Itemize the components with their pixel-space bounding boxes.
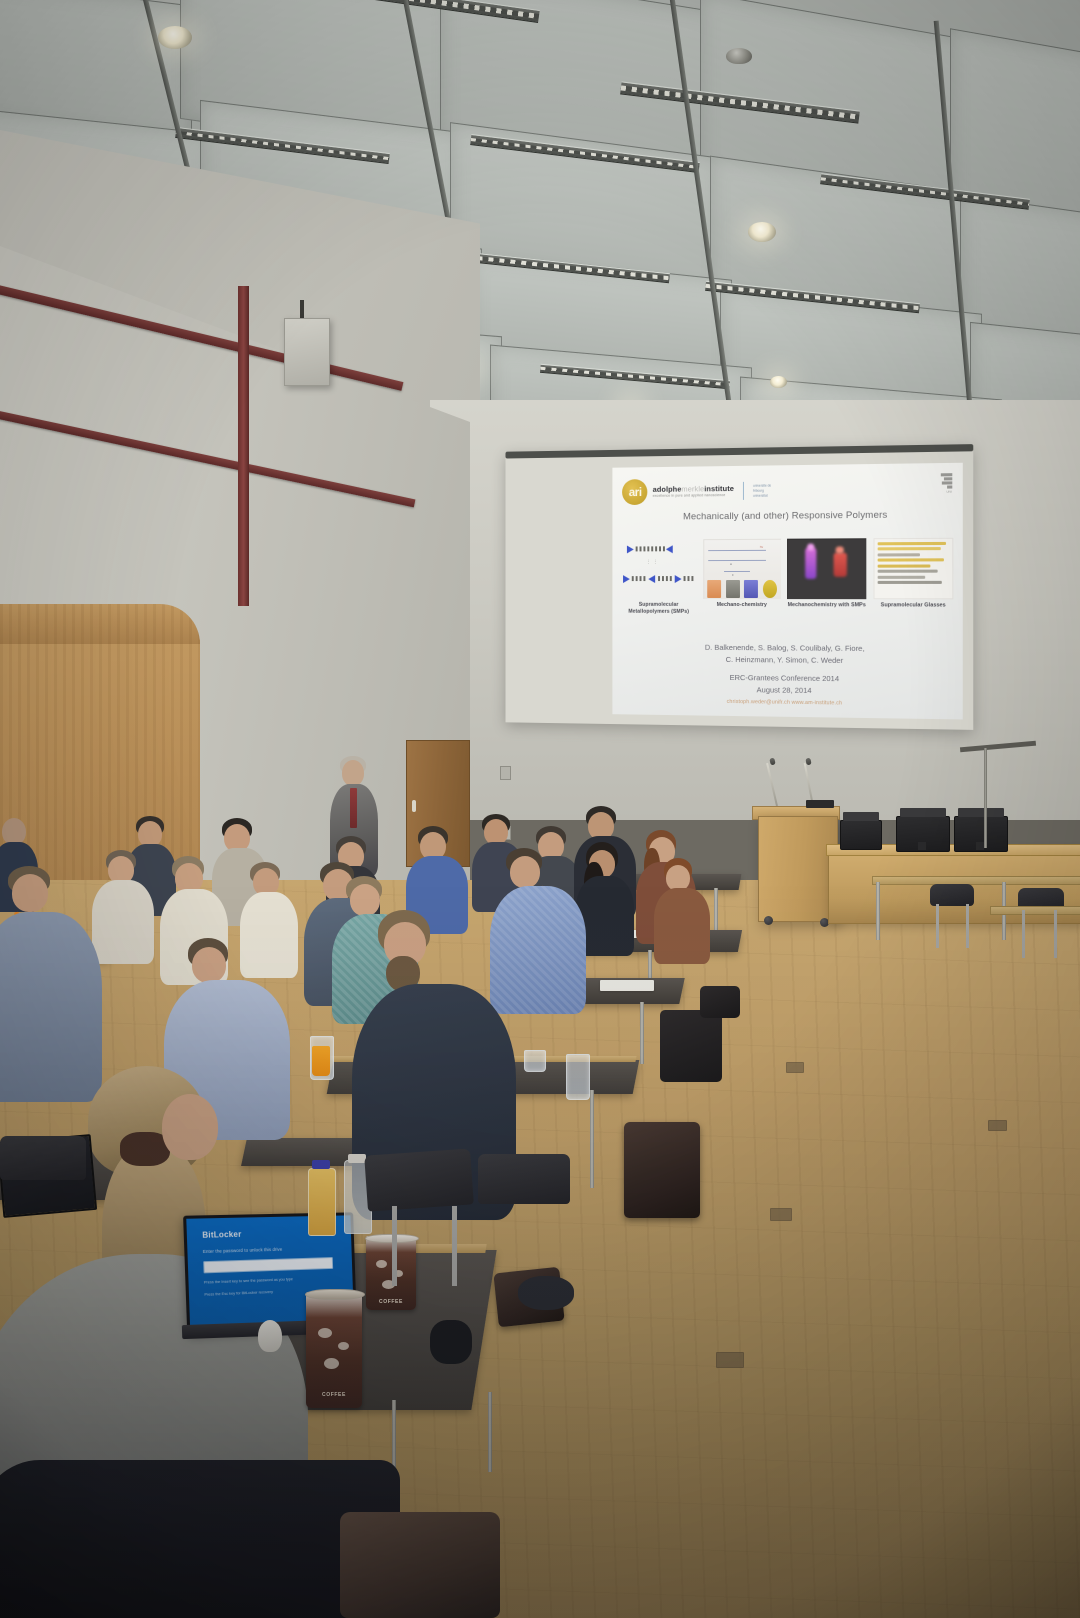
floor-socket-cover xyxy=(716,1352,744,1368)
av-monitor[interactable] xyxy=(840,820,882,850)
orange-juice-liquid xyxy=(312,1046,330,1076)
ceiling-spotlight xyxy=(748,222,776,242)
slide-panel-row: ⋮ ⋮ Supramolecular Metallopolymers (SMPs… xyxy=(621,537,954,640)
floor-socket-cover xyxy=(786,1062,804,1073)
conference-date: August 28, 2014 xyxy=(629,683,944,698)
cup-rim xyxy=(305,1289,365,1300)
bottle-cap-icon xyxy=(312,1160,330,1169)
panel-caption: Supramolecular Metallopolymers (SMPs) xyxy=(621,601,697,615)
lecture-hall-photo: ari adolphemerkleinstitute excellence in… xyxy=(0,0,1080,1618)
podium-caster xyxy=(764,916,773,925)
floor-socket-cover xyxy=(770,1208,792,1221)
bitlocker-subtitle: Enter the password to unlock this drive xyxy=(203,1246,283,1253)
slide-authors: D. Balkenende, S. Balog, S. Coulibaly, G… xyxy=(629,642,944,668)
authors-line-2: C. Heinzmann, Y. Simon, C. Weder xyxy=(629,653,944,667)
podium-laptop xyxy=(806,800,834,808)
smoke-detector-icon xyxy=(726,48,752,64)
shoe xyxy=(518,1276,574,1310)
bottle-cap-icon xyxy=(348,1154,366,1163)
door-handle-icon[interactable] xyxy=(412,800,416,812)
shoe xyxy=(430,1320,472,1364)
bitlocker-hint-2: Press the Esc key for BitLocker recovery xyxy=(204,1290,273,1299)
bitlocker-hint-1: Press the Insert key to see the password… xyxy=(204,1277,293,1286)
polymer-chain-icon: ⋮ ⋮ xyxy=(621,539,697,599)
side-table xyxy=(872,876,1080,885)
slide-panel: hv ∆ F Mechano-chemistry xyxy=(703,538,780,608)
backpack xyxy=(340,1512,500,1618)
institute-name-part3: institute xyxy=(704,484,734,493)
coffee-cup: COFFEE xyxy=(306,1292,362,1408)
coffee-cup: COFFEE xyxy=(366,1236,416,1310)
chair[interactable] xyxy=(0,1136,86,1180)
slide-title: Mechanically (and other) Responsive Poly… xyxy=(626,509,948,523)
institute-name-part2: merkle xyxy=(681,484,704,493)
panel-caption: Supramolecular Glasses xyxy=(881,602,946,609)
wood-wall-panel xyxy=(0,604,200,644)
slide-panel: Supramolecular Glasses xyxy=(873,537,954,609)
presentation-slide: ari adolphemerkleinstitute excellence in… xyxy=(612,463,962,720)
amber-text-block-icon xyxy=(873,537,954,599)
corner-logo-label: UNI xyxy=(946,490,951,494)
computer-mouse[interactable] xyxy=(258,1320,282,1352)
water-glass xyxy=(524,1050,546,1072)
coffee-cup-label: COFFEE xyxy=(306,1392,362,1398)
juice-bottle xyxy=(308,1168,336,1236)
projection-screen: ari adolphemerkleinstitute excellence in… xyxy=(505,444,973,730)
side-table xyxy=(990,906,1080,915)
ari-logo-icon: ari xyxy=(622,479,647,505)
bitlocker-password-input[interactable] xyxy=(203,1257,333,1273)
affiliation-block: universite de fribourg universitat xyxy=(753,484,771,498)
ceiling-spotlight xyxy=(770,376,787,388)
affiliation-line: universitat xyxy=(753,494,771,498)
slide-panel: ⋮ ⋮ Supramolecular Metallopolymers (SMPs… xyxy=(621,539,697,616)
lectern-podium xyxy=(758,816,838,922)
handbag xyxy=(660,1010,722,1082)
slide-conference-info: ERC-Grantees Conference 2014 August 28, … xyxy=(629,671,944,698)
chair[interactable] xyxy=(478,1154,570,1204)
water-glass xyxy=(566,1054,590,1100)
floor-socket-cover xyxy=(988,1120,1007,1131)
ceiling-spotlight xyxy=(158,26,192,49)
panel-caption: Mechanochemistry with SMPs xyxy=(788,602,866,609)
laptop-bag xyxy=(624,1122,700,1218)
slide-contact: christoph.weder@unifr.ch www.am-institut… xyxy=(629,697,944,707)
affiliation-line: universite de xyxy=(753,484,771,488)
handbag xyxy=(700,986,740,1018)
structural-column xyxy=(238,286,249,606)
institute-name-part1: adolphe xyxy=(653,484,682,493)
slide-logo-header: ari adolphemerkleinstitute excellence in… xyxy=(622,471,951,510)
affiliation-line: fribourg xyxy=(753,489,771,493)
slide-panel: Mechanochemistry with SMPs xyxy=(787,538,866,609)
rack-support-pole xyxy=(984,748,987,848)
coffee-cup-label: COFFEE xyxy=(366,1299,416,1305)
university-corner-logo: UNI xyxy=(940,473,951,494)
panel-caption: Mechano-chemistry xyxy=(717,601,767,608)
institute-tagline: excellence in pure and applied nanoscien… xyxy=(653,494,734,498)
wall-speaker xyxy=(284,318,330,386)
handout-paper xyxy=(600,980,654,991)
luminescent-vials-icon xyxy=(787,538,866,599)
reaction-scheme-icon: hv ∆ F xyxy=(703,538,780,598)
chair[interactable] xyxy=(364,1148,474,1211)
wall-outlet xyxy=(500,766,511,780)
chair[interactable] xyxy=(930,884,974,906)
bitlocker-title: BitLocker xyxy=(202,1230,242,1240)
